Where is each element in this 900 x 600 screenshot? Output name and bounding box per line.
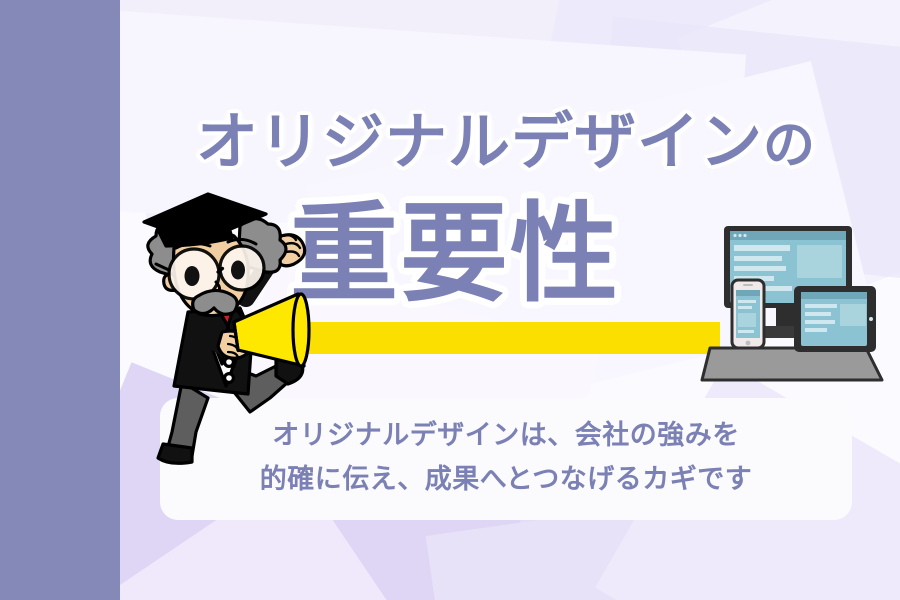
headline-line-1-suffix: の xyxy=(763,117,816,175)
headline-line-1: オリジナルデザインの xyxy=(196,112,816,174)
professor-with-megaphone-icon xyxy=(130,186,340,471)
banner-root: HPについて オリジナルデザインの 重要性 xyxy=(0,0,900,600)
headline-line-1-main: オリジナルデザイン xyxy=(196,108,763,177)
yellow-highlight-bar xyxy=(295,322,720,354)
side-band xyxy=(0,0,120,600)
responsive-devices-icon xyxy=(700,218,892,390)
